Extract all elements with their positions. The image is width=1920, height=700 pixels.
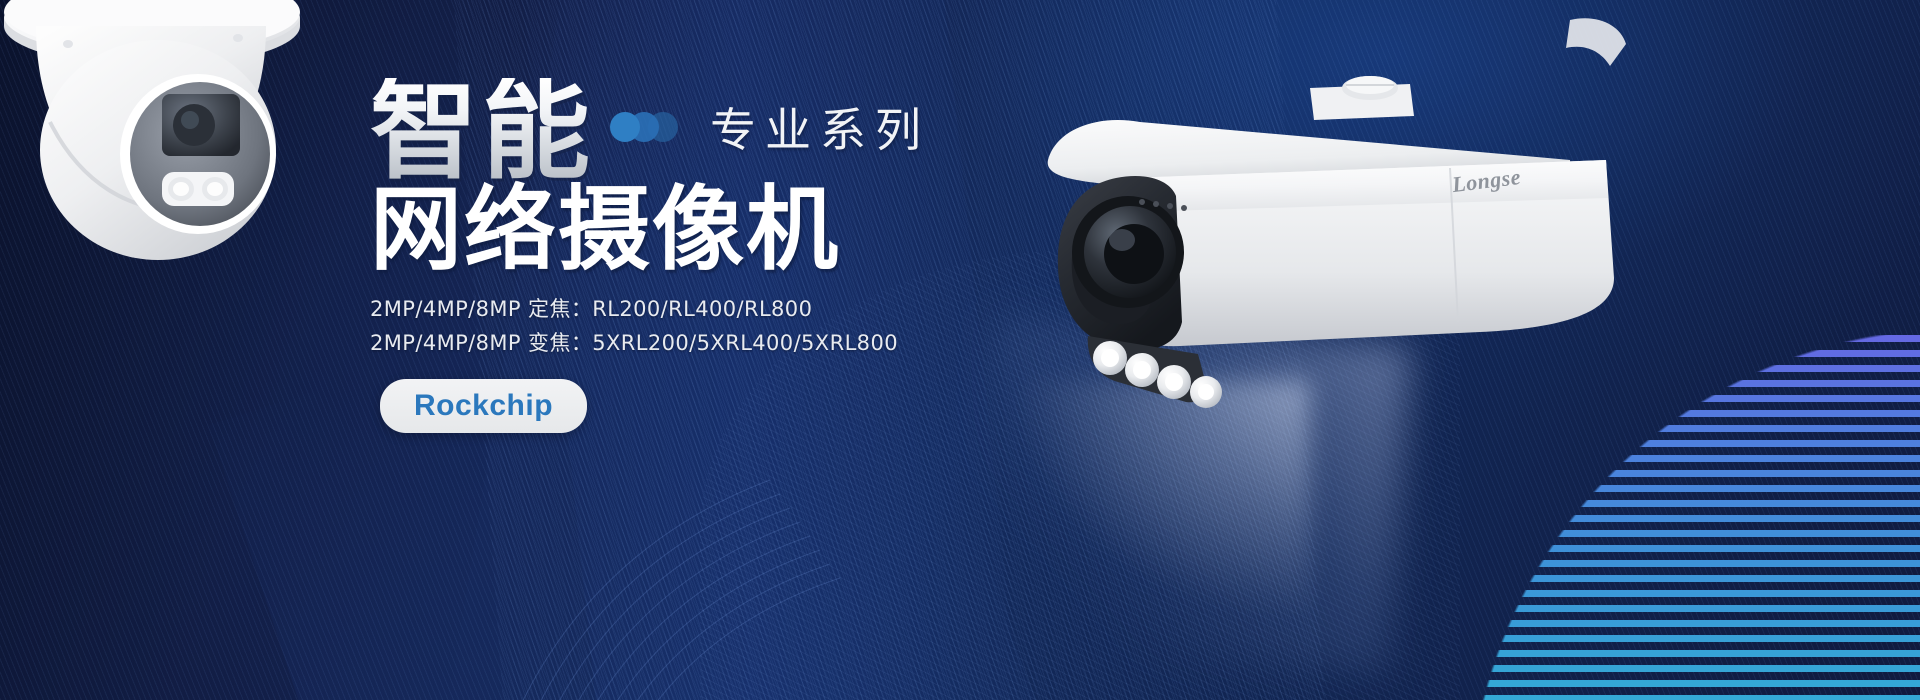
chipset-badge: Rockchip [380, 379, 587, 433]
spec-line-zoom: 2MP/4MP/8MP 变焦：5XRL200/5XRL400/5XRL800 [370, 327, 1010, 361]
title-row: 智能 专业系列 [370, 78, 1010, 186]
dome-camera-icon [0, 0, 320, 282]
blue-dots-icon [610, 112, 680, 142]
striped-arc-decoration [1400, 200, 1920, 700]
swirl-lines-decoration [470, 420, 890, 700]
product-banner: Longse 智能 专业系列 网络摄像机 2MP/4MP/8MP 定焦：RL20… [0, 0, 1920, 700]
spec-line-fixed: 2MP/4MP/8MP 定焦：RL200/RL400/RL800 [370, 293, 1010, 327]
series-subtitle: 专业系列 [710, 94, 930, 160]
page-title: 智能 [370, 78, 594, 186]
spec-list: 2MP/4MP/8MP 定焦：RL200/RL400/RL800 2MP/4MP… [370, 293, 1010, 360]
product-title: 网络摄像机 [370, 180, 1010, 279]
banner-copy: 智能 专业系列 网络摄像机 2MP/4MP/8MP 定焦：RL200/RL400… [370, 78, 1010, 433]
